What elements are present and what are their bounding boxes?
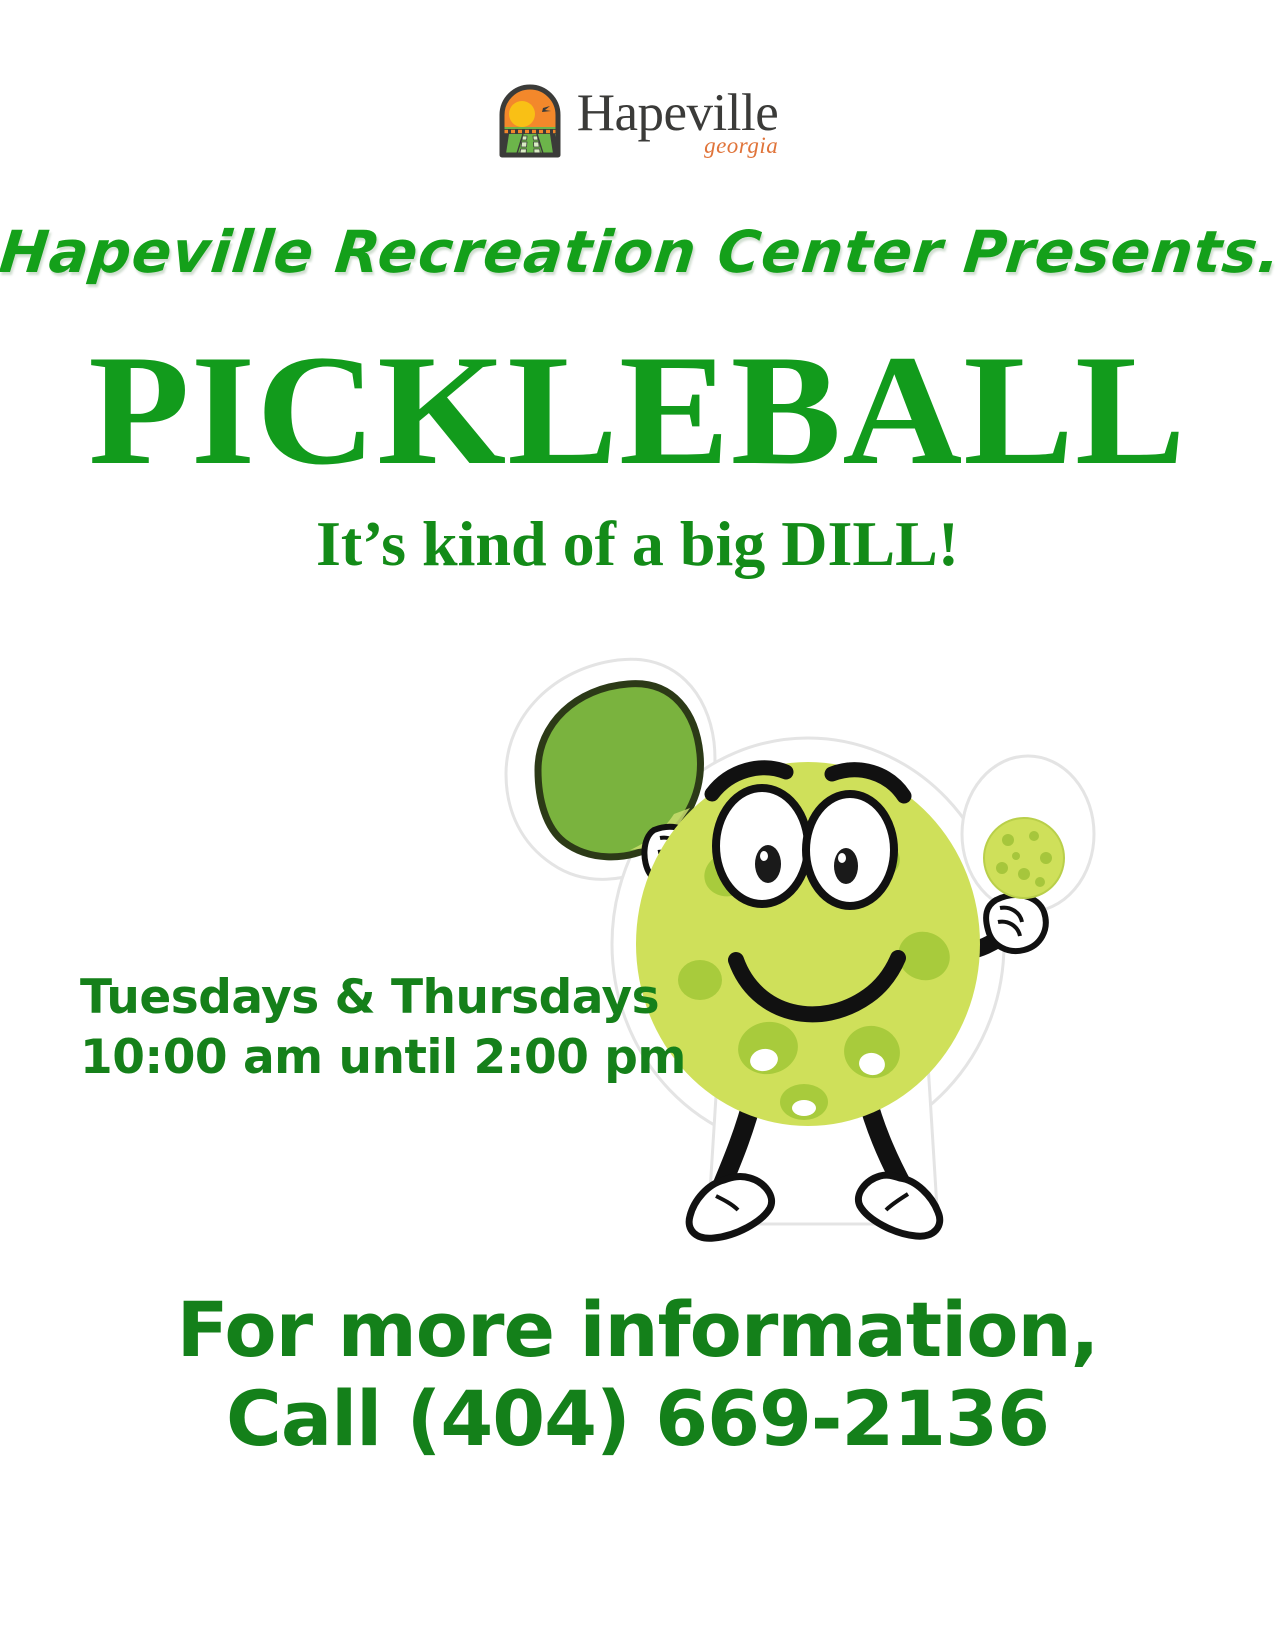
contact-block: For more information, Call (404) 669-213… bbox=[0, 1286, 1275, 1464]
page-title: PICKLEBALL bbox=[0, 332, 1275, 490]
schedule-hours: 10:00 am until 2:00 pm bbox=[80, 1028, 640, 1088]
flyer-canvas: Hapeville georgia Hapeville Recreation C… bbox=[0, 0, 1275, 1650]
contact-info-line: For more information, bbox=[0, 1286, 1275, 1375]
hapeville-arch-logo-icon bbox=[497, 82, 563, 160]
schedule-block: Tuesdays & Thursdays 10:00 am until 2:00… bbox=[80, 968, 640, 1087]
contact-phone-line[interactable]: Call (404) 669-2136 bbox=[0, 1375, 1275, 1464]
small-pickleball bbox=[984, 818, 1064, 898]
logo-city-text: Hapeville bbox=[577, 88, 779, 139]
schedule-days: Tuesdays & Thursdays bbox=[80, 968, 640, 1028]
pickleball-mascot-icon bbox=[468, 624, 1108, 1244]
presents-headline: Hapeville Recreation Center Presents... bbox=[0, 218, 1275, 286]
logo-wordmark: Hapeville georgia bbox=[577, 82, 779, 159]
hapeville-logo: Hapeville georgia bbox=[0, 82, 1275, 160]
tagline: It’s kind of a big DILL! bbox=[0, 512, 1275, 576]
